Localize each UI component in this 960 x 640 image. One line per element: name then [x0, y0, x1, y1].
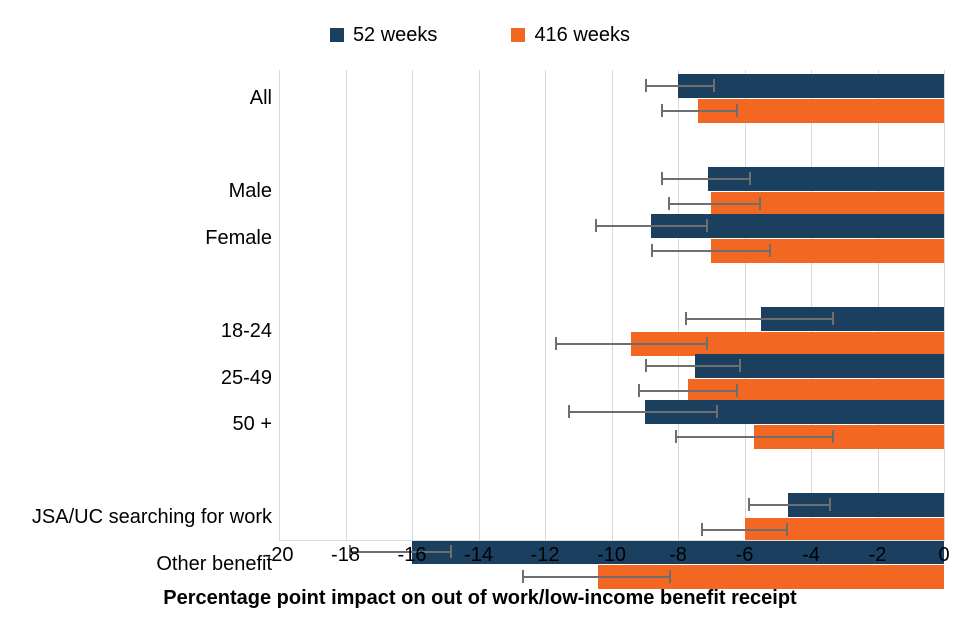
error-bar-cap-high — [706, 219, 708, 232]
x-axis-line — [279, 540, 945, 541]
legend-entry-52-weeks[interactable]: 52 weeks — [330, 25, 438, 45]
gridline--18 — [346, 70, 347, 540]
error-bar — [668, 197, 761, 210]
x-tick-label: -4 — [802, 545, 820, 565]
error-bar-cap-low — [675, 430, 677, 443]
error-bar-cap-high — [736, 104, 738, 117]
x-tick-label: -8 — [669, 545, 687, 565]
x-tick-label: -6 — [736, 545, 754, 565]
legend-label-52-weeks: 52 weeks — [353, 25, 438, 45]
error-bar — [651, 244, 771, 257]
x-tick-label: 0 — [938, 545, 949, 565]
error-bar-line — [555, 343, 708, 345]
error-bar — [685, 312, 835, 325]
x-tick-label: -12 — [531, 545, 560, 565]
x-tick-label: -18 — [331, 545, 360, 565]
error-bar — [675, 430, 835, 443]
error-bar-cap-high — [706, 337, 708, 350]
gridline--10 — [612, 70, 613, 540]
error-bar-line — [685, 318, 835, 320]
x-axis-title: Percentage point impact on out of work/l… — [0, 588, 960, 608]
error-bar-line — [645, 85, 715, 87]
error-bar — [638, 384, 738, 397]
error-bar-cap-low — [522, 570, 524, 583]
error-bar-cap-high — [749, 172, 751, 185]
gridline--2 — [878, 70, 879, 540]
x-tick-label: -2 — [869, 545, 887, 565]
error-bar-line — [661, 178, 751, 180]
error-bar — [595, 219, 708, 232]
legend-entry-416-weeks[interactable]: 416 weeks — [511, 25, 630, 45]
x-tick-label: -20 — [265, 545, 294, 565]
category-axis-labels: AllMaleFemale18-2425-4950 +JSA/UC search… — [0, 70, 272, 540]
gridline--4 — [811, 70, 812, 540]
error-bar — [701, 523, 787, 536]
error-bar-cap-high — [713, 79, 715, 92]
error-bar-line — [645, 365, 741, 367]
error-bar-cap-low — [645, 359, 647, 372]
error-bar — [645, 79, 715, 92]
error-bar-cap-low — [661, 104, 663, 117]
gridline--8 — [678, 70, 679, 540]
error-bar — [661, 172, 751, 185]
error-bar-line — [668, 203, 761, 205]
error-bar-line — [675, 436, 835, 438]
error-bar-cap-low — [645, 79, 647, 92]
category-label: Female — [205, 228, 272, 248]
error-bar-line — [595, 225, 708, 227]
error-bar — [661, 104, 737, 117]
category-label: 50 + — [233, 414, 272, 434]
error-bar-cap-high — [769, 244, 771, 257]
error-bar-line — [701, 529, 787, 531]
chart-legend: 52 weeks 416 weeks — [0, 18, 960, 52]
plot-area — [279, 70, 944, 540]
legend-label-416-weeks: 416 weeks — [534, 25, 630, 45]
gridline-0 — [944, 70, 945, 540]
error-bar-line — [661, 110, 737, 112]
error-bar-cap-high — [736, 384, 738, 397]
error-bar-cap-low — [668, 197, 670, 210]
error-bar-line — [568, 411, 718, 413]
error-bar — [522, 570, 672, 583]
error-bar-cap-high — [669, 570, 671, 583]
error-bar-cap-low — [638, 384, 640, 397]
category-label: 18-24 — [221, 321, 272, 341]
error-bar — [645, 359, 741, 372]
error-bar-cap-low — [748, 498, 750, 511]
error-bar — [568, 405, 718, 418]
error-bar-cap-high — [832, 312, 834, 325]
category-label: JSA/UC searching for work — [32, 507, 272, 527]
error-bar-cap-low — [701, 523, 703, 536]
error-bar-cap-high — [716, 405, 718, 418]
error-bar-cap-high — [832, 430, 834, 443]
x-tick-label: -14 — [464, 545, 493, 565]
x-tick-label: -10 — [597, 545, 626, 565]
chart-figure: 52 weeks 416 weeks AllMaleFemale18-2425-… — [0, 0, 960, 640]
legend-swatch-52-weeks — [330, 28, 344, 42]
error-bar-cap-low — [595, 219, 597, 232]
error-bar-cap-high — [829, 498, 831, 511]
gridline--14 — [479, 70, 480, 540]
error-bar-line — [638, 390, 738, 392]
x-tick-label: -16 — [398, 545, 427, 565]
error-bar-cap-low — [685, 312, 687, 325]
gridline--20 — [279, 70, 280, 540]
error-bar-cap-high — [759, 197, 761, 210]
error-bar-cap-low — [555, 337, 557, 350]
category-label: 25-49 — [221, 368, 272, 388]
gridline--12 — [545, 70, 546, 540]
category-label: All — [250, 88, 272, 108]
error-bar-cap-low — [651, 244, 653, 257]
error-bar-cap-high — [786, 523, 788, 536]
error-bar-cap-low — [568, 405, 570, 418]
error-bar-line — [651, 250, 771, 252]
category-label: Male — [229, 181, 272, 201]
error-bar-cap-low — [661, 172, 663, 185]
error-bar-line — [522, 576, 672, 578]
legend-swatch-416-weeks — [511, 28, 525, 42]
gridline--6 — [745, 70, 746, 540]
error-bar-line — [748, 504, 831, 506]
error-bar — [748, 498, 831, 511]
x-axis-tick-labels: -20-18-16-14-12-10-8-6-4-20 — [0, 545, 960, 571]
error-bar-cap-high — [739, 359, 741, 372]
gridline--16 — [412, 70, 413, 540]
bar-52-weeks — [678, 74, 944, 98]
error-bar — [555, 337, 708, 350]
